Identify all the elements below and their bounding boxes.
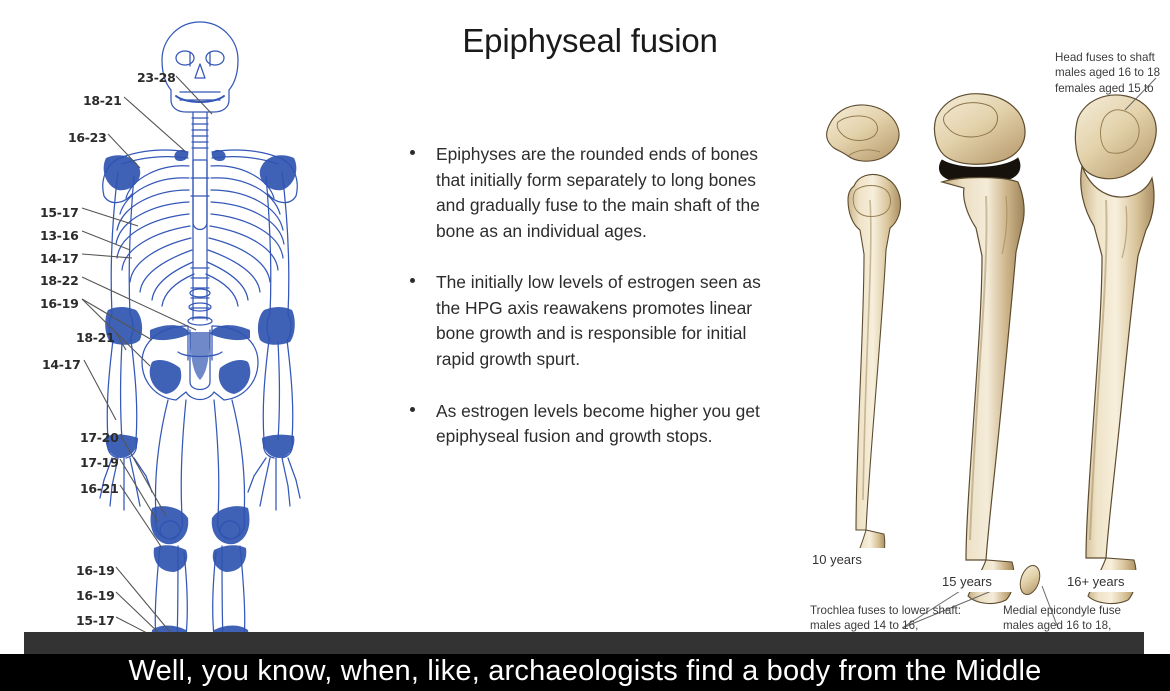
bullet-dot-icon <box>410 407 415 412</box>
caption-bar: Well, you know, when, like, archaeologis… <box>0 654 1170 691</box>
bone-15-years <box>935 94 1044 604</box>
epiphysis-age-label: 17-20 <box>80 430 118 445</box>
epiphysis-age-label: 18-22 <box>40 273 78 288</box>
bullet-item: As estrogen levels become higher you get… <box>398 399 770 450</box>
bullet-dot-icon <box>410 150 415 155</box>
bullet-dot-icon <box>410 278 415 283</box>
epiphysis-age-label: 16-23 <box>68 130 106 145</box>
bone-16-plus-years <box>1075 95 1156 603</box>
epiphysis-age-label: 15-17 <box>40 205 78 220</box>
presentation-slide: 23-2818-2116-2315-1713-1614-1718-2216-19… <box>0 0 1170 691</box>
caption-text: Well, you know, when, like, archaeologis… <box>129 655 1042 688</box>
bone-age-label: 15 years <box>942 574 992 589</box>
epiphysis-age-label: 18-21 <box>76 330 114 345</box>
bullet-text: The initially low levels of estrogen see… <box>436 272 761 369</box>
bone-10-years <box>827 105 901 567</box>
bullet-list: Epiphyses are the rounded ends of bones … <box>398 142 770 476</box>
epiphysis-age-label: 16-19 <box>76 588 114 603</box>
epiphysis-age-label: 16-21 <box>80 481 118 496</box>
bullet-item: Epiphyses are the rounded ends of bones … <box>398 142 770 244</box>
bullet-item: The initially low levels of estrogen see… <box>398 270 770 372</box>
epiphysis-age-label: 14-17 <box>42 357 80 372</box>
epiphysis-age-label: 15-17 <box>76 613 114 628</box>
epiphysis-age-label: 23-28 <box>137 70 175 85</box>
bone-age-label: 16+ years <box>1067 574 1124 589</box>
epiphysis-age-label: 16-19 <box>76 563 114 578</box>
epiphysis-age-label: 17-19 <box>80 455 118 470</box>
bone-age-label: 10 years <box>812 552 862 567</box>
humerus-diagram: Head fuses to shaft males aged 16 to 18 … <box>790 0 1170 660</box>
skeleton-illustration <box>0 0 360 668</box>
slide-edge-strip <box>24 632 1144 654</box>
epiphysis-age-label: 16-19 <box>40 296 78 311</box>
bullet-text: Epiphyses are the rounded ends of bones … <box>436 144 760 241</box>
epiphysis-age-label: 14-17 <box>40 251 78 266</box>
bullet-text: As estrogen levels become higher you get… <box>436 401 760 447</box>
page-title: Epiphyseal fusion <box>400 22 780 60</box>
skeleton-diagram: 23-2818-2116-2315-1713-1614-1718-2216-19… <box>0 0 360 668</box>
head-fuses-note: Head fuses to shaft males aged 16 to 18 … <box>1055 50 1160 96</box>
epiphysis-age-label: 13-16 <box>40 228 78 243</box>
epiphysis-age-label: 18-21 <box>83 93 121 108</box>
